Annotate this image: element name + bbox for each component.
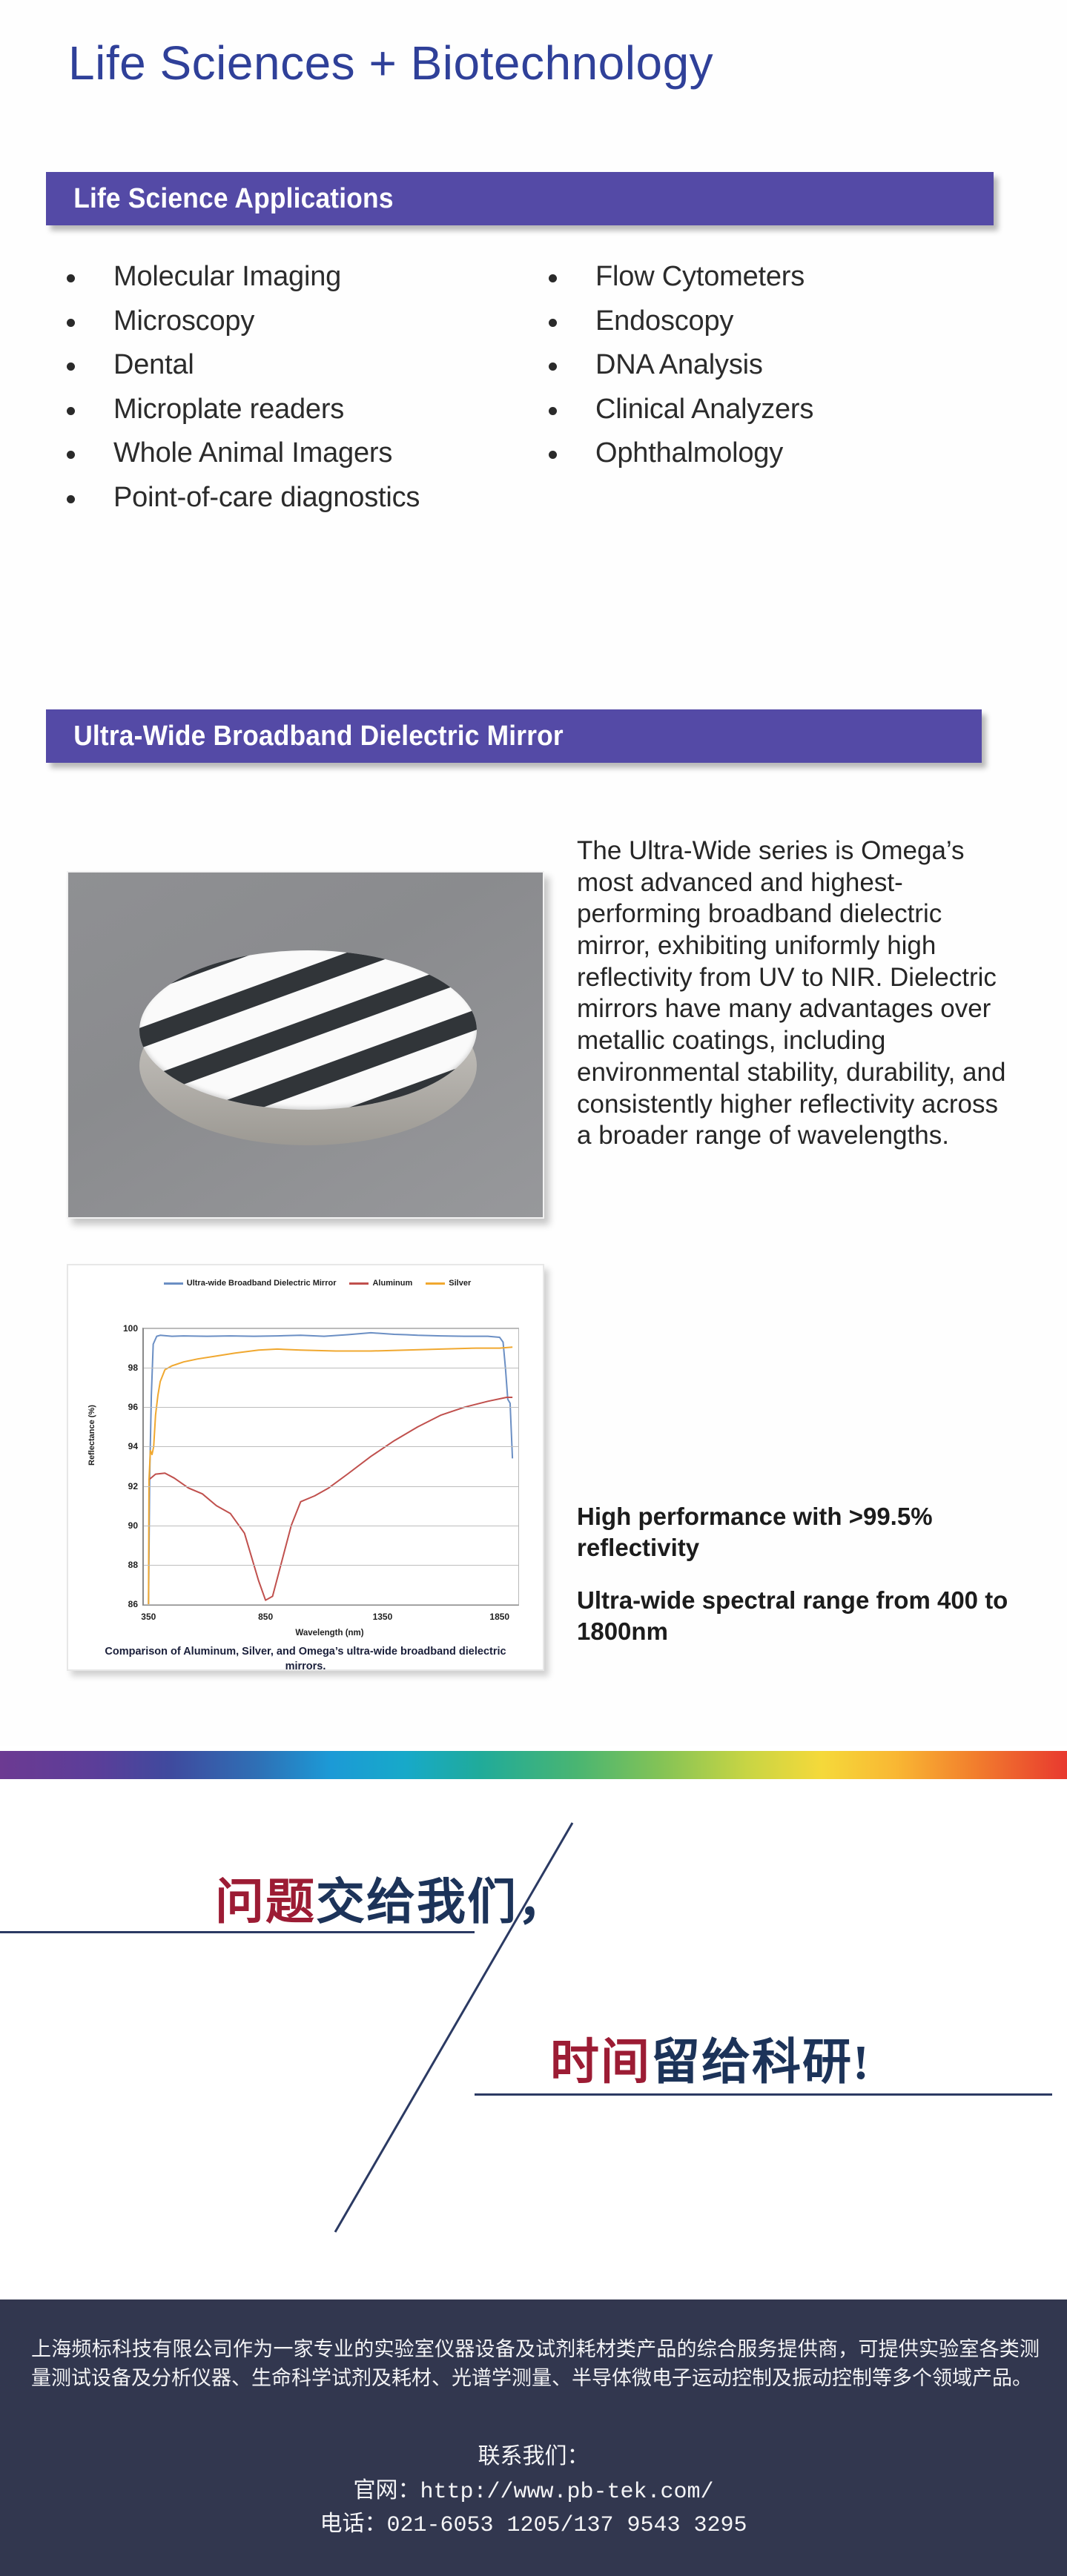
chart-x-tick-label: 350 — [141, 1612, 156, 1622]
bullet-dot-icon — [549, 274, 557, 282]
page-top-white-area: Life Sciences + Biotechnology Life Scien… — [0, 0, 1067, 1746]
chart-gridline — [144, 1565, 518, 1566]
mirror-disc-graphic — [139, 950, 477, 1136]
bullet-dot-icon — [67, 319, 75, 327]
chart-legend-label: Ultra-wide Broadband Dielectric Mirror — [187, 1279, 337, 1288]
chart-y-tick-label: 98 — [128, 1363, 138, 1373]
chart-gridline — [144, 1328, 518, 1329]
application-left-label: Microscopy — [113, 305, 254, 337]
chart-gridline — [144, 1604, 518, 1605]
chart-gridline — [144, 1446, 518, 1447]
mirror-disc-top-surface — [139, 950, 477, 1110]
application-right-label: DNA Analysis — [595, 349, 763, 381]
chart-series-line — [148, 1333, 512, 1604]
chart-series-svg — [144, 1328, 518, 1604]
chart-gridline — [144, 1526, 518, 1526]
chart-y-axis-label: Reflectance (%) — [87, 1405, 96, 1466]
application-right-item: Flow Cytometers — [549, 261, 1038, 293]
footer-website[interactable]: 官网：http://www.pb-tek.com/ — [0, 2476, 1067, 2510]
application-right-item: Clinical Analyzers — [549, 394, 1038, 426]
application-left-label: Dental — [113, 349, 194, 381]
bullet-dot-icon — [549, 407, 557, 415]
application-left-label: Whole Animal Imagers — [113, 437, 392, 469]
section-banner-mirror: Ultra-Wide Broadband Dielectric Mirror — [46, 709, 982, 763]
application-right-label: Ophthalmology — [595, 437, 783, 469]
slogan-line-2-red: 时间 — [550, 2036, 651, 2090]
slogan-line-2-blue: 留给科研! — [651, 2036, 871, 2090]
chart-series-line — [148, 1347, 512, 1604]
bullet-dot-icon — [549, 319, 557, 327]
slogan-line-1-red: 问题 — [215, 1875, 316, 1930]
section-banner-mirror-label: Ultra-Wide Broadband Dielectric Mirror — [46, 721, 564, 752]
page-title: Life Sciences + Biotechnology — [68, 36, 1032, 90]
applications-list-left: Molecular ImagingMicroscopyDentalMicropl… — [67, 261, 556, 526]
chart-gridline — [144, 1368, 518, 1368]
chart-plot-area: 8688909294969810035085013501850 — [142, 1328, 519, 1606]
application-right-label: Flow Cytometers — [595, 261, 805, 293]
bullet-dot-icon — [549, 362, 557, 371]
spectrum-divider-bar — [0, 1751, 1067, 1779]
bullet-dot-icon — [67, 362, 75, 371]
application-right-label: Clinical Analyzers — [595, 394, 813, 426]
slogan-band — [0, 1779, 1067, 2298]
chart-y-tick-label: 86 — [128, 1599, 138, 1609]
application-right-item: DNA Analysis — [549, 349, 1038, 381]
application-left-item: Point-of-care diagnostics — [67, 482, 556, 514]
chart-y-tick-label: 96 — [128, 1402, 138, 1412]
chart-y-tick-label: 94 — [128, 1441, 138, 1451]
slogan-line-2: 时间留给科研! — [550, 2022, 871, 2093]
chart-y-tick-label: 90 — [128, 1520, 138, 1531]
chart-x-tick-label: 1850 — [489, 1612, 509, 1622]
application-left-label: Molecular Imaging — [113, 261, 341, 293]
chart-legend-label: Aluminum — [372, 1279, 412, 1288]
chart-legend: Ultra-wide Broadband Dielectric MirrorAl… — [110, 1279, 525, 1288]
application-left-item: Microscopy — [67, 305, 556, 337]
application-right-label: Endoscopy — [595, 305, 733, 337]
application-right-item: Endoscopy — [549, 305, 1038, 337]
application-left-label: Point-of-care diagnostics — [113, 482, 420, 514]
chart-gridline — [144, 1407, 518, 1408]
section-banner-applications-label: Life Science Applications — [46, 183, 394, 215]
section-banner-applications: Life Science Applications — [46, 172, 994, 225]
bullet-dot-icon — [67, 495, 75, 503]
bullet-dot-icon — [67, 274, 75, 282]
chart-x-axis-label: Wavelength (nm) — [142, 1629, 517, 1638]
reflectance-chart-card: Ultra-wide Broadband Dielectric MirrorAl… — [67, 1264, 544, 1671]
chart-legend-swatch — [426, 1282, 445, 1285]
application-left-item: Microplate readers — [67, 394, 556, 426]
chart-legend-item: Silver — [426, 1279, 471, 1288]
footer-contact-block: 联系我们： 官网：http://www.pb-tek.com/ 电话：021-6… — [0, 2442, 1067, 2543]
footer-company-description: 上海频标科技有限公司作为一家专业的实验室仪器设备及试剂耗材类产品的综合服务提供商… — [31, 2335, 1040, 2393]
chart-x-tick-label: 1350 — [373, 1612, 393, 1622]
bullet-dot-icon — [67, 451, 75, 459]
slogan-rule-right — [475, 2093, 1052, 2096]
footer-contact-title: 联系我们： — [0, 2442, 1067, 2476]
chart-y-tick-label: 92 — [128, 1481, 138, 1491]
footer: 上海频标科技有限公司作为一家专业的实验室仪器设备及试剂耗材类产品的综合服务提供商… — [0, 2299, 1067, 2576]
chart-legend-item: Aluminum — [349, 1279, 412, 1288]
chart-series-line — [148, 1397, 512, 1600]
mirror-highlight-performance: High performance with >99.5% reflectivit… — [577, 1501, 1022, 1563]
chart-legend-swatch — [349, 1282, 369, 1285]
mirror-description-paragraph: The Ultra-Wide series is Omega’s most ad… — [577, 835, 1007, 1152]
slogan-line-1: 问题交给我们， — [215, 1862, 568, 1933]
applications-list-right: Flow CytometersEndoscopyDNA AnalysisClin… — [549, 261, 1038, 482]
chart-caption: Comparison of Aluminum, Silver, and Omeg… — [85, 1645, 526, 1674]
chart-legend-item: Ultra-wide Broadband Dielectric Mirror — [164, 1279, 337, 1288]
chart-legend-swatch — [164, 1282, 183, 1285]
application-left-item: Molecular Imaging — [67, 261, 556, 293]
chart-legend-label: Silver — [449, 1279, 471, 1288]
application-left-label: Microplate readers — [113, 394, 344, 426]
bullet-dot-icon — [67, 407, 75, 415]
chart-y-tick-label: 88 — [128, 1560, 138, 1570]
chart-x-tick-label: 850 — [258, 1612, 273, 1622]
bullet-dot-icon — [549, 451, 557, 459]
chart-gridline — [144, 1486, 518, 1487]
application-right-item: Ophthalmology — [549, 437, 1038, 469]
mirror-highlight-spectral-range: Ultra-wide spectral range from 400 to 18… — [577, 1585, 1022, 1646]
footer-phone: 电话：021-6053 1205/137 9543 3295 — [0, 2509, 1067, 2543]
slogan-line-1-blue: 交给我们， — [316, 1875, 568, 1930]
application-left-item: Whole Animal Imagers — [67, 437, 556, 469]
application-left-item: Dental — [67, 349, 556, 381]
mirror-product-photo — [67, 871, 544, 1219]
chart-y-tick-label: 100 — [123, 1323, 138, 1334]
